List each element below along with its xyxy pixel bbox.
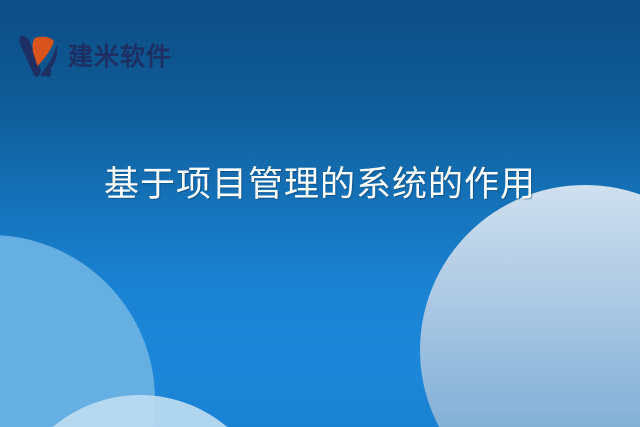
slide-title: 基于项目管理的系统的作用 (0, 164, 640, 206)
brand-logo: 建米软件 (18, 33, 172, 79)
decorative-circle-left (0, 235, 155, 427)
logo-wordmark: 建米软件 (68, 44, 172, 69)
presentation-slide: 建米软件 基于项目管理的系统的作用 (0, 0, 640, 427)
decorative-circle-bottom (5, 395, 275, 427)
logo-leaf-icon (18, 33, 62, 79)
decorative-circle-right (420, 185, 640, 427)
